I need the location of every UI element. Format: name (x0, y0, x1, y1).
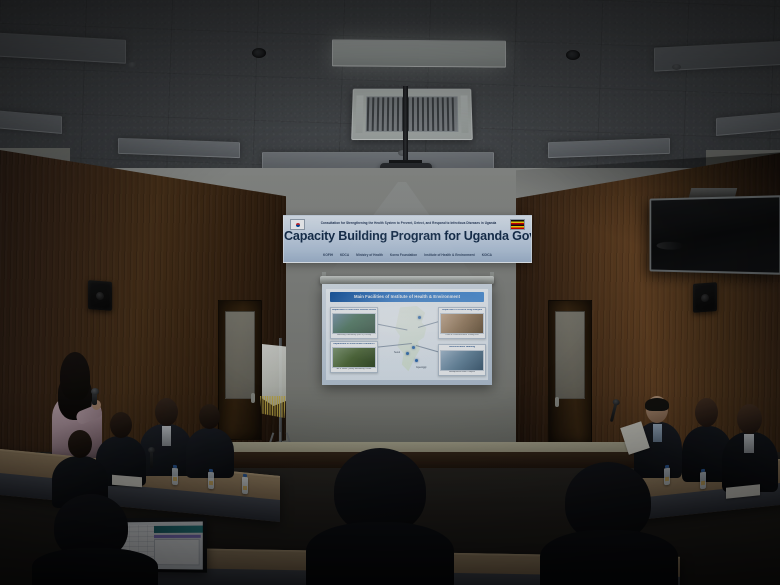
delegate-shirt (744, 434, 754, 453)
korea-map-graphic: Seoul Gyeonggi (382, 306, 442, 374)
tv-screen-glare (657, 242, 684, 250)
door-window (555, 311, 585, 399)
speaker-cone (701, 294, 709, 303)
slide-callout: Administration Building Headquarters Mai… (438, 344, 486, 376)
map-point (415, 359, 418, 362)
callout-photo (332, 347, 376, 368)
delegate-left-1 (140, 398, 192, 472)
projection-screen: Main Facilities of Institute of Health &… (322, 284, 492, 385)
sponsor-logo: Institute of Health & Environment (424, 253, 474, 257)
conference-room-scene: Consultation for Strengthening the Healt… (0, 0, 780, 585)
foreground-attendee-1 (40, 494, 150, 585)
slide-callout: Department of Environment Research Air &… (330, 341, 378, 373)
presentation-slide: Main Facilities of Institute of Health &… (326, 289, 488, 380)
water-bottle[interactable] (242, 477, 248, 495)
callout-heading: Administration Building (440, 346, 484, 349)
wall-mounted-tv[interactable] (649, 195, 780, 275)
delegate-shirt (653, 424, 662, 442)
sponsor-logo: Ministry of Health (356, 253, 383, 257)
bottle-cap (243, 474, 247, 477)
water-bottle[interactable] (172, 468, 178, 486)
microphone-head (148, 447, 155, 453)
flag-fringe (260, 396, 286, 418)
handheld-microphone (92, 392, 97, 405)
event-banner: Consultation for Strengthening the Healt… (283, 215, 532, 263)
banner-title: Capacity Building Program for Uganda Gov… (284, 228, 531, 245)
sponsor-logo: KDCA (340, 253, 349, 257)
delegate-head (155, 398, 178, 426)
wall-speaker-icon (693, 282, 717, 313)
callout-caption: Air & Water Quality Monitoring Center (332, 368, 376, 371)
map-label: Seoul (394, 351, 400, 354)
delegate-left-4 (52, 430, 108, 504)
map-point (418, 316, 421, 319)
sponsor-logo: Korea Foundation (390, 253, 417, 257)
door-handle[interactable] (251, 393, 255, 403)
callout-photo (440, 350, 484, 371)
sponsor-logo: KOICA (482, 253, 492, 257)
bottle-cap (701, 469, 705, 472)
slide-title: Main Facilities of Institute of Health &… (330, 292, 484, 302)
callout-photo (332, 313, 376, 334)
attendee-shoulders (540, 530, 678, 585)
delegate-head (110, 412, 132, 438)
callout-heading: Department of Environment Research (332, 343, 376, 346)
slide-callout: Department of Infectious Disease Researc… (330, 307, 378, 339)
water-bottle[interactable] (700, 472, 706, 490)
callout-caption: Biosafety Laboratory (BSL-3) Facility (332, 334, 376, 337)
callout-heading: Department of Infectious Disease Researc… (332, 309, 376, 312)
right-door[interactable] (548, 300, 592, 444)
door-handle[interactable] (555, 397, 559, 407)
app-toolbar (154, 535, 201, 539)
delegate-head (199, 404, 220, 429)
bottle-cap (173, 465, 177, 468)
delegate-left-3 (186, 404, 234, 474)
attendee-shoulders (32, 548, 158, 585)
speaker-cone (96, 292, 104, 301)
map-label: Gyeonggi (416, 366, 426, 369)
callout-caption: Headquarters Main Campus (440, 371, 484, 374)
desk-microphone[interactable] (150, 452, 153, 468)
delegate-shirt (162, 426, 171, 446)
delegate-right-3 (722, 404, 778, 488)
screen-housing (320, 276, 494, 284)
banner-subtitle: Consultation for Strengthening the Healt… (316, 218, 501, 227)
app-ribbon (154, 525, 203, 533)
delegate-hair (645, 398, 669, 411)
presenter-hair (60, 352, 90, 400)
banner-sponsor-logos: KOFIH KDCA Ministry of Health Korea Foun… (284, 251, 531, 259)
attendee-shoulders (306, 522, 454, 585)
delegate-head (695, 398, 718, 427)
foreground-attendee-3 (548, 462, 668, 585)
bottle-cap (209, 469, 213, 472)
callout-photo (440, 313, 484, 334)
door-window (225, 311, 255, 399)
map-point (406, 352, 409, 355)
document-pane (154, 539, 200, 565)
map-point (412, 346, 415, 349)
callout-heading: Department of Food & Drug Analysis (440, 309, 484, 312)
delegate-head (68, 430, 92, 458)
map-outline (382, 306, 442, 374)
callout-caption: Food & Pharmaceutical Testing Unit (440, 334, 484, 337)
slide-callout: Department of Food & Drug Analysis Food … (438, 307, 486, 339)
water-bottle[interactable] (208, 472, 214, 490)
foreground-attendee-2 (316, 448, 444, 585)
delegate-head (737, 404, 762, 434)
sponsor-logo: KOFIH (323, 253, 333, 257)
wall-speaker-icon (88, 280, 112, 311)
